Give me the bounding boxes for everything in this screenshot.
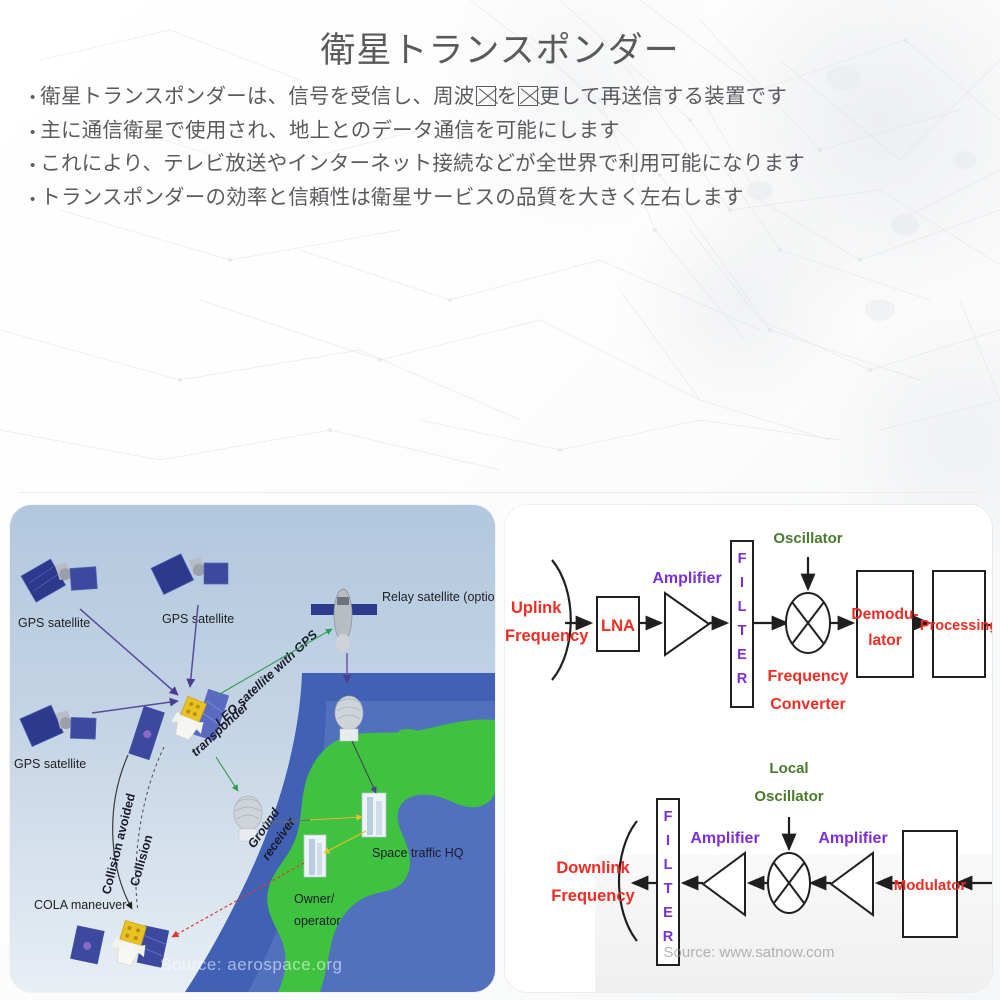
label-amplifier-tx-right: Amplifier bbox=[818, 830, 887, 847]
bullet-marker: • bbox=[30, 125, 35, 140]
svg-text:L: L bbox=[738, 599, 747, 615]
label-amplifier-rx: Amplifier bbox=[652, 570, 721, 587]
label-owner-operator-line2: operator bbox=[294, 914, 341, 928]
label-uplink-line1: Uplink bbox=[511, 599, 562, 617]
label-cola-maneuver: COLA maneuver bbox=[34, 898, 126, 912]
label-oscillator: Oscillator bbox=[773, 530, 842, 547]
label-frequency-converter-line2: Converter bbox=[770, 696, 846, 713]
svg-text:F: F bbox=[738, 551, 747, 567]
label-gps-satellite-3: GPS satellite bbox=[14, 757, 86, 771]
content-divider bbox=[18, 492, 982, 493]
bullet-text-4: トランスポンダーの効率と信頼性は衛星サービスの品質を大きく左右します bbox=[40, 188, 743, 209]
slide: 衛星トランスポンダー • 衛星トランスポンダーは、信号を受信し、周波を更して再送… bbox=[0, 0, 1000, 1000]
label-gps-satellite-2: GPS satellite bbox=[162, 612, 234, 626]
bullet-marker: • bbox=[30, 192, 35, 207]
space-traffic-hq-building-icon bbox=[362, 793, 386, 837]
label-owner-operator-line1: Owner/ bbox=[294, 892, 335, 906]
bullet-item-1: • 衛星トランスポンダーは、信号を受信し、周波を更して再送信する装置です bbox=[30, 86, 960, 108]
svg-text:I: I bbox=[740, 575, 744, 591]
label-lna: LNA bbox=[601, 617, 635, 635]
label-downlink-line1: Downlink bbox=[556, 859, 630, 877]
svg-text:F: F bbox=[664, 809, 673, 825]
label-relay-satellite: Relay satellite (optional) bbox=[382, 590, 495, 604]
bullet-item-3: • これにより、テレビ放送やインターネット接続などが全世界で利用可能になります bbox=[30, 154, 960, 175]
label-frequency-converter-line1: Frequency bbox=[768, 668, 849, 685]
label-amplifier-tx-left: Amplifier bbox=[690, 830, 759, 847]
left-illustration-panel: GPS satellite GPS satellite GPS sate bbox=[10, 505, 495, 992]
page-title: 衛星トランスポンダー bbox=[0, 22, 1000, 73]
svg-text:R: R bbox=[663, 929, 674, 945]
label-space-traffic-hq: Space traffic HQ bbox=[372, 846, 464, 860]
label-downlink-line2: Frequency bbox=[551, 887, 635, 905]
label-demodulator-line2: lator bbox=[868, 632, 902, 649]
label-demodulator-line1: Demodu- bbox=[851, 606, 918, 623]
label-processing: Processing bbox=[920, 618, 992, 634]
bullet-marker: • bbox=[30, 90, 35, 105]
svg-text:E: E bbox=[663, 905, 673, 921]
bullet-1-mid: を bbox=[497, 85, 518, 108]
satellite-constellation-illustration: GPS satellite GPS satellite GPS sate bbox=[10, 505, 495, 992]
bullet-text-1: 衛星トランスポンダーは、信号を受信し、周波を更して再送信する装置です bbox=[40, 86, 787, 108]
label-modulator: Modulator bbox=[894, 877, 967, 894]
owner-operator-building-icon bbox=[304, 835, 326, 877]
right-image-source-watermark: Source: www.satnow.com bbox=[664, 944, 835, 961]
bullet-list: • 衛星トランスポンダーは、信号を受信し、周波を更して再送信する装置です • 主… bbox=[30, 86, 960, 221]
svg-text:E: E bbox=[737, 647, 747, 663]
bullet-text-2: 主に通信衛星で使用され、地上とのデータ通信を可能にします bbox=[40, 121, 620, 142]
missing-glyph-box bbox=[518, 86, 538, 106]
bullet-1-post: 更して再送信する装置です bbox=[539, 85, 787, 108]
bullet-item-2: • 主に通信衛星で使用され、地上とのデータ通信を可能にします bbox=[30, 121, 960, 142]
missing-glyph-box bbox=[476, 86, 496, 106]
right-block-diagram-panel: Uplink Frequency LNA Amplifier FIL TER O… bbox=[505, 505, 992, 992]
svg-text:L: L bbox=[664, 857, 673, 873]
bullet-1-pre: 衛星トランスポンダーは、信号を受信し、周波 bbox=[40, 85, 474, 108]
bullet-marker: • bbox=[30, 158, 35, 173]
label-uplink-line2: Frequency bbox=[505, 627, 589, 645]
svg-text:T: T bbox=[738, 623, 747, 639]
svg-text:T: T bbox=[664, 881, 673, 897]
label-local-oscillator-line1: Local bbox=[769, 760, 808, 777]
svg-text:I: I bbox=[666, 833, 670, 849]
label-gps-satellite-1: GPS satellite bbox=[18, 616, 90, 630]
bullet-item-4: • トランスポンダーの効率と信頼性は衛星サービスの品質を大きく左右します bbox=[30, 188, 960, 209]
label-local-oscillator-line2: Oscillator bbox=[754, 788, 823, 805]
demodulator-box bbox=[857, 571, 913, 677]
svg-text:R: R bbox=[737, 671, 748, 687]
bullet-text-3: これにより、テレビ放送やインターネット接続などが全世界で利用可能になります bbox=[40, 154, 805, 175]
transponder-block-diagram: Uplink Frequency LNA Amplifier FIL TER O… bbox=[505, 505, 992, 992]
